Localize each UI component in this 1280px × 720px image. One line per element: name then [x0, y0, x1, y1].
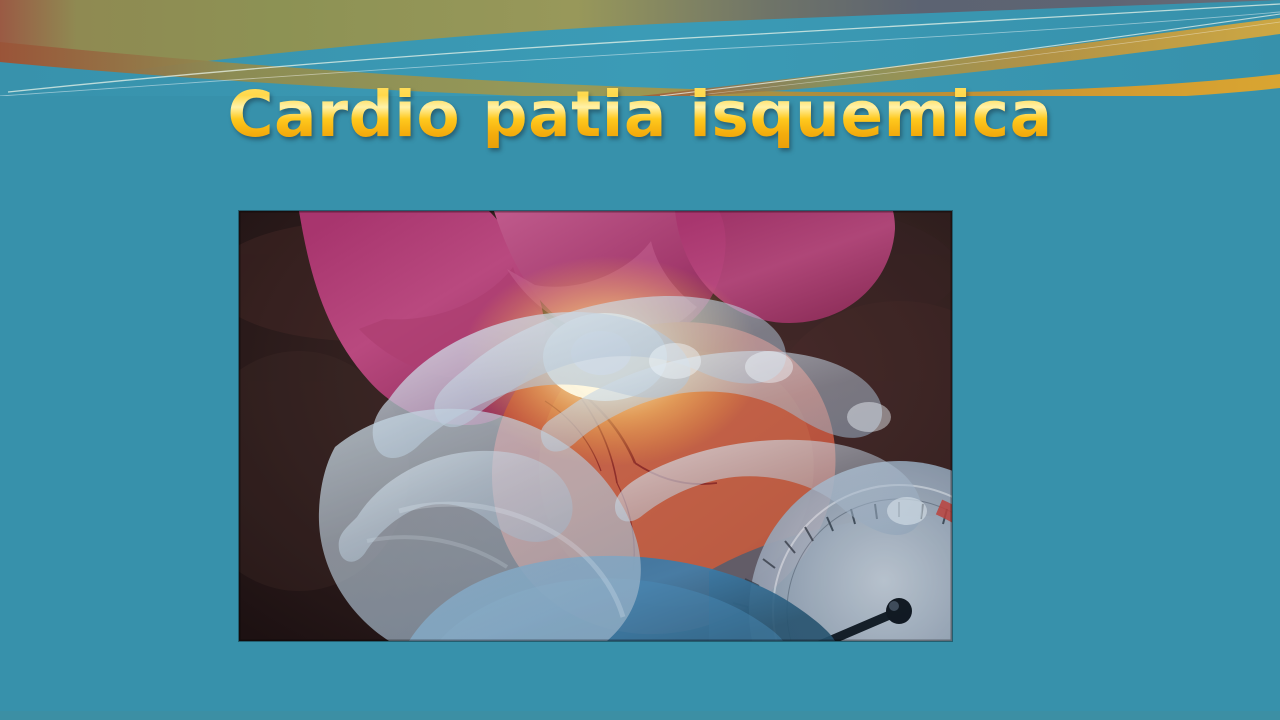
- bottom-accent-band: [0, 711, 1280, 720]
- presentation-slide: Cardio patia isquemica: [0, 0, 1280, 720]
- gauge-hub: [886, 598, 912, 624]
- heart-in-hand-illustration: [239, 211, 952, 641]
- decorative-wave-banner: [0, 0, 1280, 96]
